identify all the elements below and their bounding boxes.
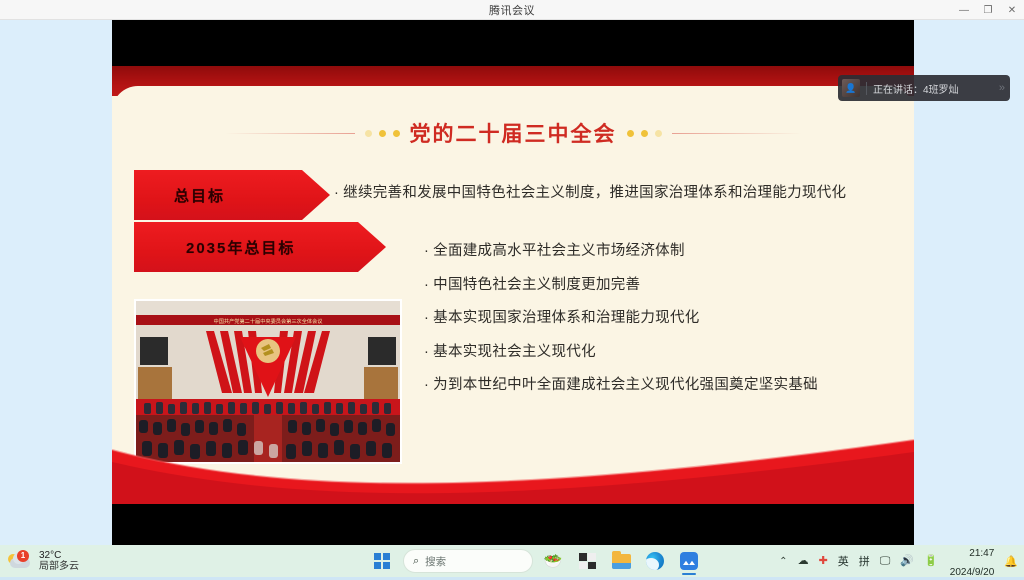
windows-logo-icon bbox=[374, 553, 390, 569]
taskbar-item-file-explorer[interactable] bbox=[573, 547, 601, 575]
maximize-button[interactable]: ❐ bbox=[976, 0, 1000, 20]
windows-taskbar: 1 32°C 局部多云 ⌕ 搜索 🥗 bbox=[0, 545, 1024, 577]
start-button[interactable] bbox=[368, 547, 396, 575]
security-icon[interactable]: ✚ bbox=[819, 556, 828, 567]
list-item-label: 全面建成高水平社会主义市场经济体制 bbox=[433, 243, 685, 259]
tray-overflow-icon[interactable]: ⌃ bbox=[779, 556, 787, 567]
clock-date: 2024/9/20 bbox=[950, 567, 995, 578]
clock[interactable]: 21:47 2024/9/20 bbox=[950, 542, 995, 580]
list-item: ·中国特色社会主义制度更加完善 bbox=[424, 273, 818, 294]
volume-icon[interactable]: 🔊 bbox=[900, 556, 914, 567]
taskbar-item-microsoft-edge[interactable] bbox=[641, 547, 669, 575]
arrow-banner-overall-goal: 总目标 bbox=[134, 170, 330, 220]
arrow-label: 2035年总目标 bbox=[186, 237, 295, 258]
search-input[interactable]: ⌕ 搜索 bbox=[403, 549, 533, 573]
window-controls: — ❐ ✕ bbox=[952, 0, 1024, 20]
system-tray: ⌃ ☁ ✚ 英 拼 🖵 🔊 🔋 21:47 2024/9/20 🔔 bbox=[779, 545, 1018, 577]
taskbar-weather-widget[interactable]: 1 32°C 局部多云 bbox=[8, 550, 79, 573]
file-explorer-icon bbox=[579, 553, 596, 569]
list-item-label: 为到本世纪中叶全面建成社会主义现代化强国奠定坚实基础 bbox=[433, 377, 818, 393]
onedrive-icon[interactable]: ☁ bbox=[798, 556, 809, 567]
ime-mode-indicator[interactable]: 拼 bbox=[859, 553, 870, 569]
lead-bullet-label: 继续完善和发展中国特色社会主义制度，推进国家治理体系和治理能力现代化 bbox=[343, 185, 846, 201]
title-rule-left bbox=[225, 133, 355, 134]
gold-dot-icon bbox=[627, 130, 634, 137]
salad-bowl-icon: 🥗 bbox=[544, 554, 563, 569]
slide-title: 党的二十届三中全会 bbox=[410, 118, 617, 148]
list-item-label: 基本实现社会主义现代化 bbox=[433, 344, 596, 360]
partly-cloudy-icon: 1 bbox=[8, 550, 34, 572]
network-icon[interactable]: 🖵 bbox=[880, 556, 891, 567]
bullet-mark: · bbox=[424, 243, 429, 259]
taskbar-item-tencent-meeting[interactable] bbox=[675, 547, 703, 575]
list-item-label: 基本实现国家治理体系和治理能力现代化 bbox=[433, 310, 699, 326]
taskbar-item-food-app[interactable]: 🥗 bbox=[539, 547, 567, 575]
gold-dot-icon bbox=[365, 130, 372, 137]
window-titlebar: 腾讯会议 — ❐ ✕ bbox=[0, 0, 1024, 20]
lead-bullet-text: ·继续完善和发展中国特色社会主义制度，推进国家治理体系和治理能力现代化 bbox=[334, 181, 846, 202]
arrow-banner-2035-goal: 2035年总目标 bbox=[134, 222, 386, 272]
chevron-right-double-icon[interactable]: » bbox=[999, 82, 1006, 94]
notification-bell-icon[interactable]: 🔔 bbox=[1004, 555, 1018, 568]
title-dots-left bbox=[365, 130, 400, 137]
gold-dot-icon bbox=[655, 130, 662, 137]
taskbar-item-folder[interactable] bbox=[607, 547, 635, 575]
avatar: 👤 bbox=[842, 79, 860, 97]
active-speaker-label: 正在讲话：4班罗灿 bbox=[873, 81, 993, 96]
bullet-mark: · bbox=[424, 310, 429, 326]
edge-icon bbox=[646, 552, 664, 570]
list-item: ·基本实现国家治理体系和治理能力现代化 bbox=[424, 306, 818, 327]
bullet-mark: · bbox=[424, 344, 429, 360]
meeting-stage: 党的二十届三中全会 总目标 2035年总目标 ·继续完善和发展中国特色社会主义制… bbox=[0, 20, 1024, 545]
search-icon: ⌕ bbox=[413, 555, 419, 568]
divider bbox=[866, 82, 867, 95]
close-button[interactable]: ✕ bbox=[1000, 0, 1024, 20]
gold-dot-icon bbox=[641, 130, 648, 137]
arrow-label: 总目标 bbox=[174, 185, 225, 206]
folder-icon bbox=[612, 554, 631, 569]
clock-time: 21:47 bbox=[969, 548, 994, 559]
presentation-slide: 党的二十届三中全会 总目标 2035年总目标 ·继续完善和发展中国特色社会主义制… bbox=[112, 66, 914, 504]
gold-dot-icon bbox=[379, 130, 386, 137]
weather-text: 32°C 局部多云 bbox=[39, 550, 79, 573]
bullet-mark: · bbox=[424, 377, 429, 393]
search-placeholder: 搜索 bbox=[425, 554, 446, 569]
list-item: ·基本实现社会主义现代化 bbox=[424, 340, 818, 361]
taskbar-center-group: ⌕ 搜索 🥗 bbox=[368, 545, 703, 577]
notification-badge: 1 bbox=[17, 550, 29, 562]
weather-description: 局部多云 bbox=[39, 561, 79, 573]
title-dots-right bbox=[627, 130, 662, 137]
window-title: 腾讯会议 bbox=[489, 2, 535, 18]
minimize-button[interactable]: — bbox=[952, 0, 976, 20]
list-item: ·全面建成高水平社会主义市场经济体制 bbox=[424, 239, 818, 260]
list-item-label: 中国特色社会主义制度更加完善 bbox=[433, 277, 640, 293]
weather-temperature: 32°C bbox=[39, 550, 79, 562]
gold-dot-icon bbox=[393, 130, 400, 137]
ribbon-graphic bbox=[112, 432, 914, 504]
title-rule-right bbox=[672, 133, 802, 134]
slide-bottom-ribbon bbox=[112, 432, 914, 504]
bullet-list: ·全面建成高水平社会主义市场经济体制 ·中国特色社会主义制度更加完善 ·基本实现… bbox=[424, 239, 818, 394]
bullet-mark: · bbox=[334, 185, 339, 201]
active-speaker-bar[interactable]: 👤 正在讲话：4班罗灿 » bbox=[838, 75, 1010, 101]
ime-language-indicator[interactable]: 英 bbox=[838, 553, 849, 569]
battery-icon[interactable]: 🔋 bbox=[924, 556, 938, 567]
slide-title-row: 党的二十届三中全会 bbox=[112, 118, 914, 148]
list-item: ·为到本世纪中叶全面建成社会主义现代化强国奠定坚实基础 bbox=[424, 373, 818, 394]
bullet-mark: · bbox=[424, 277, 429, 293]
screen-share-area[interactable]: 党的二十届三中全会 总目标 2035年总目标 ·继续完善和发展中国特色社会主义制… bbox=[112, 20, 914, 545]
svg-text:中国共产党第二十届中央委员会第三次全体会议: 中国共产党第二十届中央委员会第三次全体会议 bbox=[214, 317, 324, 325]
tencent-meeting-icon bbox=[680, 552, 698, 570]
